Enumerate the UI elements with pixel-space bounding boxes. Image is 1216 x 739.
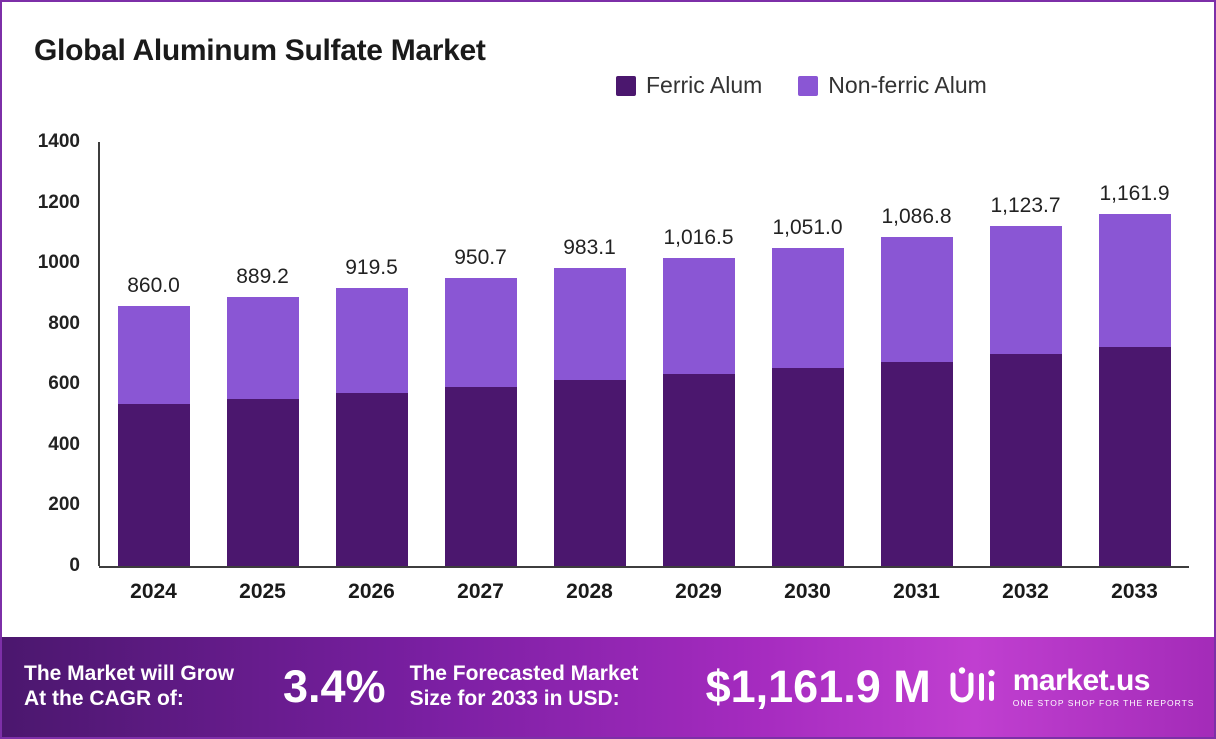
bar-stack[interactable] [663, 258, 735, 566]
bar-stack[interactable] [990, 226, 1062, 566]
legend-item-non-ferric-alum: Non-ferric Alum [798, 72, 986, 99]
forecast-caption: The Forecasted Market Size for 2033 in U… [410, 662, 702, 712]
bar-stack[interactable] [772, 248, 844, 566]
bar-segment-ferric-alum[interactable] [554, 380, 626, 566]
bar-total-label: 1,161.9 [1070, 182, 1200, 206]
bar-segment-non-ferric-alum[interactable] [336, 288, 408, 393]
x-tick-label: 2033 [1080, 580, 1189, 604]
x-tick-label: 2029 [644, 580, 753, 604]
bar-segment-ferric-alum[interactable] [881, 362, 953, 566]
chart-frame: Global Aluminum Sulfate Market Ferric Al… [0, 0, 1216, 739]
y-tick-400: 400 [10, 434, 80, 456]
bar-segment-non-ferric-alum[interactable] [1099, 214, 1171, 347]
bar-segment-non-ferric-alum[interactable] [772, 248, 844, 369]
forecast-caption-line2: Size for 2033 in USD: [410, 687, 702, 712]
cagr-caption-line1: The Market will Grow [24, 662, 279, 687]
bar-segment-ferric-alum[interactable] [336, 393, 408, 566]
y-tick-1400: 1400 [10, 131, 80, 153]
bar-segment-ferric-alum[interactable] [445, 387, 517, 566]
x-tick-label: 2031 [862, 580, 971, 604]
legend-swatch-ferric-alum [616, 76, 636, 96]
bar-stack[interactable] [1099, 214, 1171, 566]
bar-stack[interactable] [445, 278, 517, 566]
bar-segment-non-ferric-alum[interactable] [990, 226, 1062, 354]
y-tick-0: 0 [10, 555, 80, 577]
y-tick-600: 600 [10, 373, 80, 395]
bar-segment-non-ferric-alum[interactable] [554, 268, 626, 380]
chart-area: Global Aluminum Sulfate Market Ferric Al… [2, 2, 1214, 639]
y-tick-1000: 1000 [10, 252, 80, 274]
legend-item-ferric-alum: Ferric Alum [616, 72, 762, 99]
bar-segment-non-ferric-alum[interactable] [445, 278, 517, 387]
x-tick-label: 2027 [426, 580, 535, 604]
legend-swatch-non-ferric-alum [798, 76, 818, 96]
x-tick-label: 2024 [99, 580, 208, 604]
x-tick-label: 2032 [971, 580, 1080, 604]
bar-segment-ferric-alum[interactable] [663, 374, 735, 566]
bar-segment-ferric-alum[interactable] [118, 404, 190, 566]
bar-segment-non-ferric-alum[interactable] [118, 306, 190, 404]
bar-group[interactable]: 1,051.0 [753, 142, 862, 566]
bar-group[interactable]: 889.2 [208, 142, 317, 566]
x-tick-label: 2030 [753, 580, 862, 604]
cagr-caption-line2: At the CAGR of: [24, 687, 279, 712]
bar-segment-non-ferric-alum[interactable] [881, 237, 953, 362]
bar-group[interactable]: 983.1 [535, 142, 644, 566]
bar-stack[interactable] [881, 237, 953, 566]
footer-banner: The Market will Grow At the CAGR of: 3.4… [2, 637, 1216, 737]
legend-label-ferric-alum: Ferric Alum [646, 72, 762, 99]
cagr-caption: The Market will Grow At the CAGR of: [24, 662, 279, 712]
bar-stack[interactable] [336, 288, 408, 566]
y-tick-200: 200 [10, 494, 80, 516]
bar-group[interactable]: 1,016.5 [644, 142, 753, 566]
bar-group[interactable]: 950.7 [426, 142, 535, 566]
x-tick-label: 2028 [535, 580, 644, 604]
y-tick-800: 800 [10, 313, 80, 335]
bars-container: 860.0889.2919.5950.7983.11,016.51,051.01… [99, 142, 1189, 566]
bar-group[interactable]: 1,123.7 [971, 142, 1080, 566]
x-axis-labels: 2024202520262027202820292030203120322033 [99, 580, 1189, 604]
bar-segment-non-ferric-alum[interactable] [227, 297, 299, 399]
bar-group[interactable]: 919.5 [317, 142, 426, 566]
bar-group[interactable]: 1,161.9 [1080, 142, 1189, 566]
bar-stack[interactable] [554, 268, 626, 566]
brand-tagline: ONE STOP SHOP FOR THE REPORTS [1013, 698, 1195, 708]
bar-segment-ferric-alum[interactable] [772, 368, 844, 566]
bar-segment-ferric-alum[interactable] [227, 399, 299, 566]
bar-group[interactable]: 1,086.8 [862, 142, 971, 566]
brand-text: market.us ONE STOP SHOP FOR THE REPORTS [1013, 666, 1195, 708]
cagr-value: 3.4% [283, 661, 386, 713]
forecast-value: $1,161.9 M [706, 661, 931, 713]
brand-logo: market.us ONE STOP SHOP FOR THE REPORTS [949, 666, 1195, 708]
bar-stack[interactable] [227, 297, 299, 566]
bar-segment-ferric-alum[interactable] [1099, 347, 1171, 566]
bar-segment-non-ferric-alum[interactable] [663, 258, 735, 374]
legend-label-non-ferric-alum: Non-ferric Alum [828, 72, 986, 99]
forecast-caption-line1: The Forecasted Market [410, 662, 702, 687]
bar-stack[interactable] [118, 306, 190, 566]
bar-group[interactable]: 860.0 [99, 142, 208, 566]
brand-name: market.us [1013, 666, 1195, 696]
x-tick-label: 2025 [208, 580, 317, 604]
market-us-mark-icon [949, 667, 1003, 707]
x-tick-label: 2026 [317, 580, 426, 604]
x-axis-line [99, 566, 1189, 568]
bar-segment-ferric-alum[interactable] [990, 354, 1062, 566]
page-title: Global Aluminum Sulfate Market [34, 34, 486, 68]
y-tick-1200: 1200 [10, 192, 80, 214]
chart-legend: Ferric Alum Non-ferric Alum [616, 72, 987, 99]
